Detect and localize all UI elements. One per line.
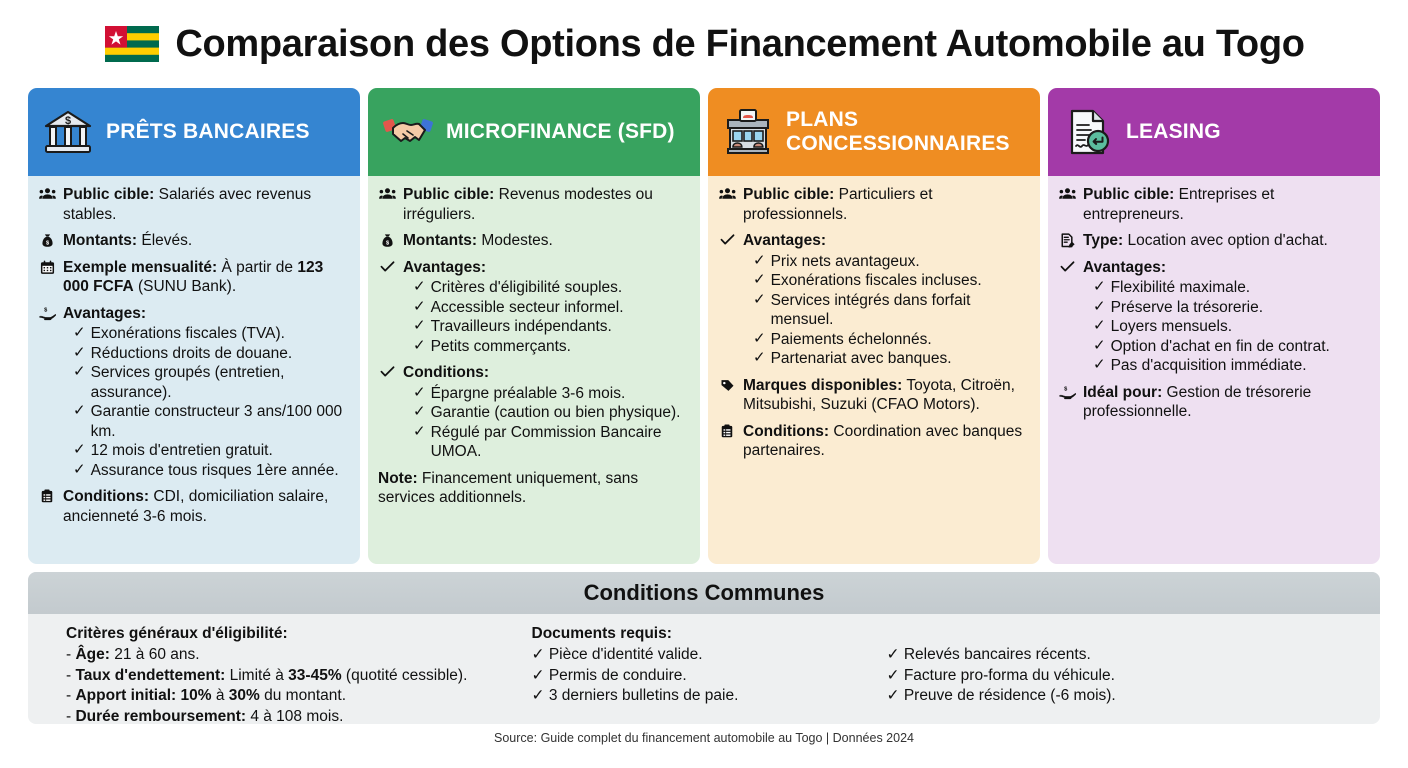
entry-type: Type: Location avec option d'achat. [1058,231,1369,251]
list-item: ✓Réductions droits de douane. [63,344,349,364]
list-item-label: Accessible secteur informel. [431,298,624,318]
bank-icon: $ [42,106,94,158]
entry-label: Avantages: [63,305,146,322]
document-item: ✓ 3 derniers bulletins de paie. [532,686,877,707]
list-item-label: Exonérations fiscales (TVA). [91,324,285,344]
list-item-label: Flexibilité maximale. [1111,278,1251,298]
list-item-label: Exonérations fiscales incluses. [771,271,982,291]
entry-label: Conditions: [63,488,149,505]
column-title: PLANS CONCESSIONNAIRES [786,108,1026,155]
sub-list: ✓Critères d'éligibilité souples. ✓Access… [403,278,689,356]
eligibility-line-duree: - Durée remboursement: 4 à 108 mois. [66,707,522,724]
list-item: ✓Préserve la trésorerie. [1083,298,1369,318]
entry-conditions: Conditions: Coordination avec banques pa… [718,422,1029,461]
entry-text: Avantages: ✓Flexibilité maximale. ✓Prése… [1083,258,1369,376]
svg-text:$: $ [44,307,48,313]
list-item-label: Pas d'acquisition immédiate. [1111,356,1307,376]
contract-renew-icon [1062,106,1114,158]
entry-value: À partir de [217,259,297,276]
column-body-microfinance-sfd: Public cible: Revenus modestes ou irrégu… [368,176,700,564]
document-item: ✓ Relevés bancaires récents. [887,645,1343,666]
hand-money-icon: $ [38,304,56,321]
list-item: ✓Garantie (caution ou bien physique). [403,403,689,423]
line-tail: (quotité cessible). [342,667,468,684]
people-group-icon [38,185,56,200]
entry-value: Élevés. [137,232,192,249]
entry-text: Montants: Élevés. [63,231,349,251]
list-item-label: Prix nets avantageux. [771,252,920,272]
line-tail-2: du montant. [260,687,346,704]
source-caption: Source: Guide complet du financement aut… [28,731,1380,745]
togo-flag-icon [103,23,161,65]
check-icon: ✓ [73,344,86,363]
check-icon: ✓ [73,363,86,382]
document-item: ✓ Pièce d'identité valide. [532,645,877,666]
line-highlight: 10% [181,687,212,704]
dealership-icon [722,106,774,158]
list-item-label: Garantie (caution ou bien physique). [431,403,681,423]
documents-spacer [887,624,1343,645]
list-item: ✓Épargne préalable 3-6 mois. [403,384,689,404]
list-item: ✓Services intégrés dans forfait mensuel. [743,291,1029,330]
entry-label: Exemple mensualité: [63,259,217,276]
check-icon: ✓ [887,687,900,704]
sub-list: ✓Prix nets avantageux. ✓Exonérations fis… [743,252,1029,369]
document-label: Pièce d'identité valide. [549,646,703,663]
check-icon: ✓ [413,298,426,317]
entry-public-cible: Public cible: Particuliers et profession… [718,185,1029,224]
entry-conditions: Conditions: CDI, domiciliation salaire, … [38,487,349,526]
entry-public-cible: Public cible: Salariés avec revenus stab… [38,185,349,224]
list-item-label: Paiements échelonnés. [771,330,932,350]
document-label: 3 derniers bulletins de paie. [549,687,739,704]
people-group-icon [378,185,396,200]
svg-text:$: $ [1064,386,1068,392]
check-icon: ✓ [413,278,426,297]
entry-label: Conditions: [743,423,829,440]
check-icon: ✓ [532,687,545,704]
entry-text: Montants: Modestes. [403,231,689,251]
list-item: ✓Petits commerçants. [403,337,689,357]
note-label: Note: [378,470,418,487]
entry-label: Conditions: [403,364,489,381]
infographic-page: Comparaison des Options de Financement A… [0,0,1408,768]
line-label: Durée remboursement: [75,708,246,724]
entry-avantages: Avantages: ✓Critères d'éligibilité soupl… [378,258,689,357]
line-value: 21 à 60 ans. [110,646,200,663]
entry-text: Conditions: ✓Épargne préalable 3-6 mois.… [403,363,689,462]
people-group-icon [718,185,736,200]
common-conditions-panel: Conditions Communes Critères généraux d'… [28,572,1380,724]
entry-text: Public cible: Revenus modestes ou irrégu… [403,185,689,224]
entry-label: Montants: [63,232,137,249]
document-item: ✓ Permis de conduire. [532,666,877,687]
entry-avantages: Avantages: ✓Prix nets avantageux. ✓Exoné… [718,231,1029,369]
list-item-label: Critères d'éligibilité souples. [431,278,623,298]
entry-exemple-mensualite: Exemple mensualité: À partir de 123 000 … [38,258,349,297]
entry-label: Avantages: [403,259,486,276]
check-icon: ✓ [1093,298,1106,317]
column-body-prets-bancaires: Public cible: Salariés avec revenus stab… [28,176,360,564]
column-leasing[interactable]: LEASING Public cible: Entreprises et ent… [1048,88,1380,564]
comparison-columns: $ PRÊTS BANCAIRES Public cible: Salariés… [28,88,1380,564]
check-icon [1058,258,1076,273]
line-highlight-2: 30% [229,687,260,704]
entry-text: Avantages: ✓Critères d'éligibilité soupl… [403,258,689,357]
check-icon: ✓ [1093,356,1106,375]
list-item: ✓Critères d'éligibilité souples. [403,278,689,298]
list-item: ✓Pas d'acquisition immédiate. [1083,356,1369,376]
check-icon: ✓ [413,337,426,356]
list-item: ✓Régulé par Commission Bancaire UMOA. [403,423,689,462]
entry-value: Modestes. [477,232,553,249]
handshake-icon [382,106,434,158]
check-icon: ✓ [753,349,766,368]
check-icon: ✓ [1093,317,1106,336]
note-text: Financement uniquement, sans services ad… [378,470,638,507]
entry-public-cible: Public cible: Entreprises et entrepreneu… [1058,185,1369,224]
entry-avantages: Avantages: ✓Flexibilité maximale. ✓Prése… [1058,258,1369,376]
check-icon [378,363,396,378]
entry-label: Avantages: [1083,259,1166,276]
entry-text: Public cible: Particuliers et profession… [743,185,1029,224]
sub-list: ✓Exonérations fiscales (TVA). ✓Réduction… [63,324,349,480]
entry-text: Idéal pour: Gestion de trésorerie profes… [1083,383,1369,422]
list-item: ✓Exonérations fiscales incluses. [743,271,1029,291]
eligibility-line-apport: - Apport initial: 10% à 30% du montant. [66,686,522,707]
list-item-label: Épargne préalable 3-6 mois. [431,384,626,404]
document-label: Facture pro-forma du véhicule. [904,667,1115,684]
list-item: ✓Services groupés (entretien, assurance)… [63,363,349,402]
list-item: ✓Travailleurs indépendants. [403,317,689,337]
list-item-label: 12 mois d'entretien gratuit. [91,441,273,461]
eligibility-line-age: - Âge: 21 à 60 ans. [66,645,522,666]
eligibility-line-taux: - Taux d'endettement: Limité à 33-45% (q… [66,666,522,687]
column-title: LEASING [1126,120,1221,144]
entry-text: Conditions: Coordination avec banques pa… [743,422,1029,461]
entry-ideal-pour: $ Idéal pour: Gestion de trésorerie prof… [1058,383,1369,422]
check-icon: ✓ [73,402,86,421]
microfinance-note: Note: Financement uniquement, sans servi… [378,469,689,508]
entry-conditions: Conditions: ✓Épargne préalable 3-6 mois.… [378,363,689,462]
line-tail: à [212,687,229,704]
list-item-label: Loyers mensuels. [1111,317,1232,337]
entry-label: Public cible: [743,186,834,203]
column-header-plans-concessionnaires: PLANS CONCESSIONNAIRES [708,88,1040,176]
entry-montants: $ Montants: Modestes. [378,231,689,251]
list-item-label: Assurance tous risques 1ère année. [91,461,339,481]
common-conditions-title: Conditions Communes [28,572,1380,614]
documents-block-left: Documents requis: ✓ Pièce d'identité val… [532,624,877,724]
line-value: Limité à [225,667,288,684]
line-label: Âge: [75,646,109,663]
column-title: PRÊTS BANCAIRES [106,120,310,144]
check-icon: ✓ [753,291,766,310]
entry-label: Montants: [403,232,477,249]
list-item: ✓Assurance tous risques 1ère année. [63,461,349,481]
entry-text: Public cible: Entreprises et entrepreneu… [1083,185,1369,224]
list-item: ✓Partenariat avec banques. [743,349,1029,369]
list-item-label: Travailleurs indépendants. [431,317,612,337]
check-icon [718,231,736,246]
common-conditions-body: Critères généraux d'éligibilité: - Âge: … [28,614,1380,724]
document-item: ✓ Preuve de résidence (-6 mois). [887,686,1343,707]
calendar-icon [38,258,56,275]
entry-text: Conditions: CDI, domiciliation salaire, … [63,487,349,526]
entry-value: Location avec option d'achat. [1123,232,1328,249]
check-icon: ✓ [1093,337,1106,356]
list-item-label: Préserve la trésorerie. [1111,298,1263,318]
list-item-label: Garantie constructeur 3 ans/100 000 km. [91,402,349,441]
entry-label: Type: [1083,232,1123,249]
entry-marques-disponibles: Marques disponibles: Toyota, Citroën, Mi… [718,376,1029,415]
documents-heading: Documents requis: [532,624,877,645]
check-icon [378,258,396,273]
column-header-leasing: LEASING [1048,88,1380,176]
line-label: Taux d'endettement: [75,667,225,684]
list-item-label: Réductions droits de douane. [91,344,293,364]
sub-list: ✓Épargne préalable 3-6 mois. ✓Garantie (… [403,384,689,462]
entry-text: Public cible: Salariés avec revenus stab… [63,185,349,224]
list-item: ✓Flexibilité maximale. [1083,278,1369,298]
entry-text: Marques disponibles: Toyota, Citroën, Mi… [743,376,1029,415]
people-group-icon [1058,185,1076,200]
line-value: 4 à 108 mois. [246,708,343,724]
list-item: ✓Paiements échelonnés. [743,330,1029,350]
list-item-label: Partenariat avec banques. [771,349,952,369]
entry-label: Public cible: [63,186,154,203]
column-microfinance-sfd[interactable]: MICROFINANCE (SFD) Public cible: Revenus… [368,88,700,564]
column-title: MICROFINANCE (SFD) [446,120,675,144]
check-icon: ✓ [753,252,766,271]
entry-label: Public cible: [1083,186,1174,203]
check-icon: ✓ [887,667,900,684]
check-icon: ✓ [413,423,426,442]
eligibility-heading: Critères généraux d'éligibilité: [66,624,522,645]
clipboard-icon [718,422,736,438]
list-item-label: Petits commerçants. [431,337,571,357]
column-body-leasing: Public cible: Entreprises et entrepreneu… [1048,176,1380,564]
column-plans-concessionnaires[interactable]: PLANS CONCESSIONNAIRES Public cible: Par… [708,88,1040,564]
column-body-plans-concessionnaires: Public cible: Particuliers et profession… [708,176,1040,564]
list-item-label: Option d'achat en fin de contrat. [1111,337,1330,357]
sub-list: ✓Flexibilité maximale. ✓Préserve la trés… [1083,278,1369,376]
list-item: ✓Exonérations fiscales (TVA). [63,324,349,344]
check-icon: ✓ [1093,278,1106,297]
entry-text: Avantages: ✓Prix nets avantageux. ✓Exoné… [743,231,1029,369]
entry-label: Idéal pour: [1083,384,1162,401]
list-item: ✓Garantie constructeur 3 ans/100 000 km. [63,402,349,441]
money-bag-icon: $ [38,231,56,248]
tag-icon [718,376,736,393]
hand-money-icon: $ [1058,383,1076,400]
eligibility-block: Critères généraux d'éligibilité: - Âge: … [66,624,522,724]
check-icon: ✓ [413,384,426,403]
entry-text: Type: Location avec option d'achat. [1083,231,1369,251]
line-label: Apport initial: [75,687,176,704]
entry-value-tail: (SUNU Bank). [134,278,237,295]
entry-label: Avantages: [743,232,826,249]
list-item: ✓Loyers mensuels. [1083,317,1369,337]
entry-label: Public cible: [403,186,494,203]
check-icon: ✓ [532,646,545,663]
svg-text:$: $ [65,115,71,127]
page-header: Comparaison des Options de Financement A… [28,0,1380,88]
check-icon: ✓ [887,646,900,663]
check-icon: ✓ [532,667,545,684]
list-item-label: Régulé par Commission Bancaire UMOA. [431,423,689,462]
column-header-prets-bancaires: $ PRÊTS BANCAIRES [28,88,360,176]
check-icon: ✓ [73,461,86,480]
list-item-label: Services intégrés dans forfait mensuel. [771,291,1029,330]
entry-public-cible: Public cible: Revenus modestes ou irrégu… [378,185,689,224]
column-header-microfinance-sfd: MICROFINANCE (SFD) [368,88,700,176]
entry-text: Exemple mensualité: À partir de 123 000 … [63,258,349,297]
document-label: Preuve de résidence (-6 mois). [904,687,1116,704]
check-icon: ✓ [73,324,86,343]
clipboard-icon [38,487,56,503]
line-highlight: 33-45% [288,667,341,684]
entry-avantages: $ Avantages: ✓Exonérations fiscales (TVA… [38,304,349,481]
money-bag-icon: $ [378,231,396,248]
list-item: ✓Option d'achat en fin de contrat. [1083,337,1369,357]
document-item: ✓ Facture pro-forma du véhicule. [887,666,1343,687]
check-icon: ✓ [753,330,766,349]
documents-block-right: ✓ Relevés bancaires récents. ✓ Facture p… [887,624,1343,724]
check-icon: ✓ [73,441,86,460]
check-icon: ✓ [413,317,426,336]
check-icon: ✓ [753,271,766,290]
entry-text: Avantages: ✓Exonérations fiscales (TVA).… [63,304,349,481]
document-label: Relevés bancaires récents. [904,646,1091,663]
list-item: ✓12 mois d'entretien gratuit. [63,441,349,461]
column-prets-bancaires[interactable]: $ PRÊTS BANCAIRES Public cible: Salariés… [28,88,360,564]
check-icon: ✓ [413,403,426,422]
document-label: Permis de conduire. [549,667,687,684]
document-edit-icon [1058,231,1076,248]
list-item: ✓Accessible secteur informel. [403,298,689,318]
entry-montants: $ Montants: Élevés. [38,231,349,251]
entry-label: Marques disponibles: [743,377,902,394]
list-item: ✓Prix nets avantageux. [743,252,1029,272]
page-title: Comparaison des Options de Financement A… [175,23,1304,66]
list-item-label: Services groupés (entretien, assurance). [91,363,349,402]
